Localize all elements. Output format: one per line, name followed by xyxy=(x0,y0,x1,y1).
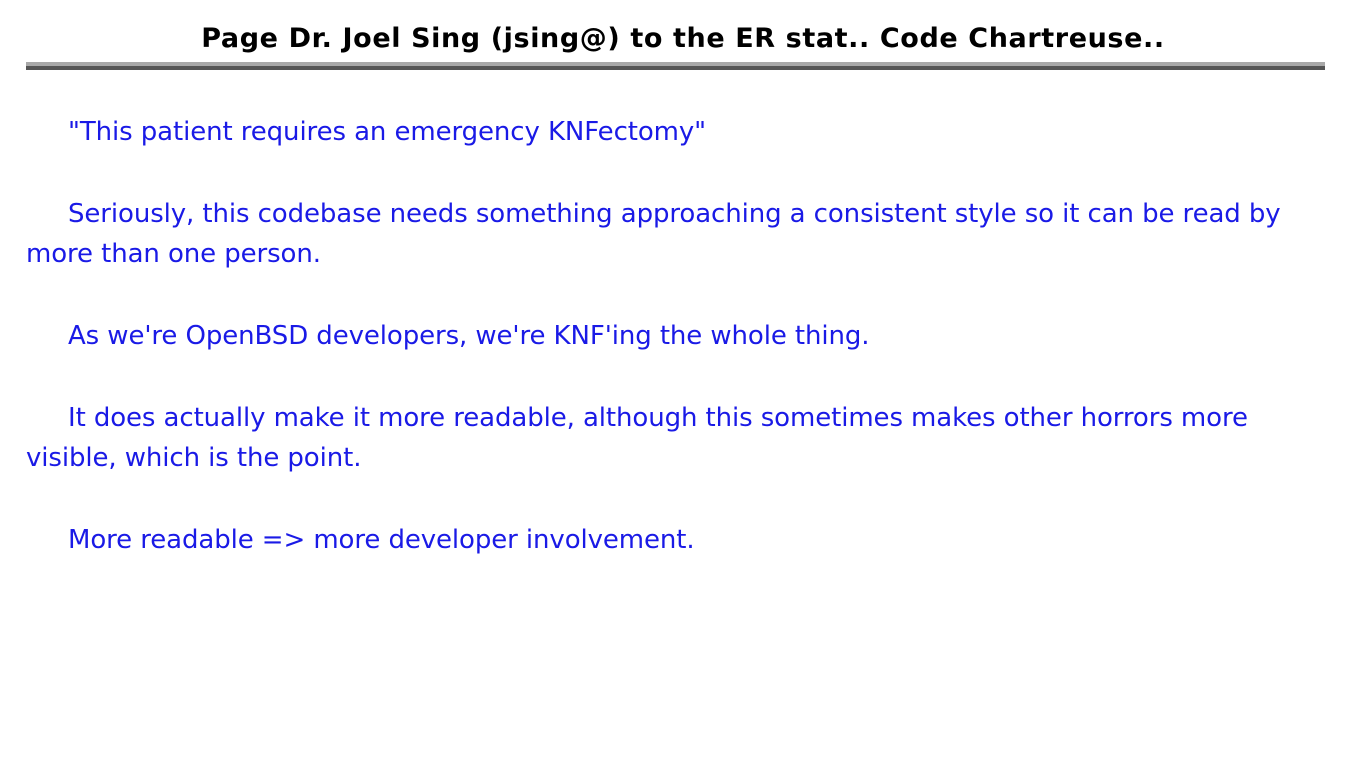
slide-body: "This patient requires an emergency KNFe… xyxy=(26,112,1326,560)
body-paragraph-2: Seriously, this codebase needs something… xyxy=(26,194,1326,274)
body-paragraph-1: "This patient requires an emergency KNFe… xyxy=(26,112,1326,152)
body-paragraph-3: As we're OpenBSD developers, we're KNF'i… xyxy=(26,316,1326,356)
page-title: Page Dr. Joel Sing (jsing@) to the ER st… xyxy=(0,22,1366,56)
body-paragraph-5: More readable => more developer involvem… xyxy=(26,520,1326,560)
body-paragraph-4: It does actually make it more readable, … xyxy=(26,398,1316,478)
presentation-slide: Page Dr. Joel Sing (jsing@) to the ER st… xyxy=(0,0,1366,768)
title-divider xyxy=(26,62,1325,70)
